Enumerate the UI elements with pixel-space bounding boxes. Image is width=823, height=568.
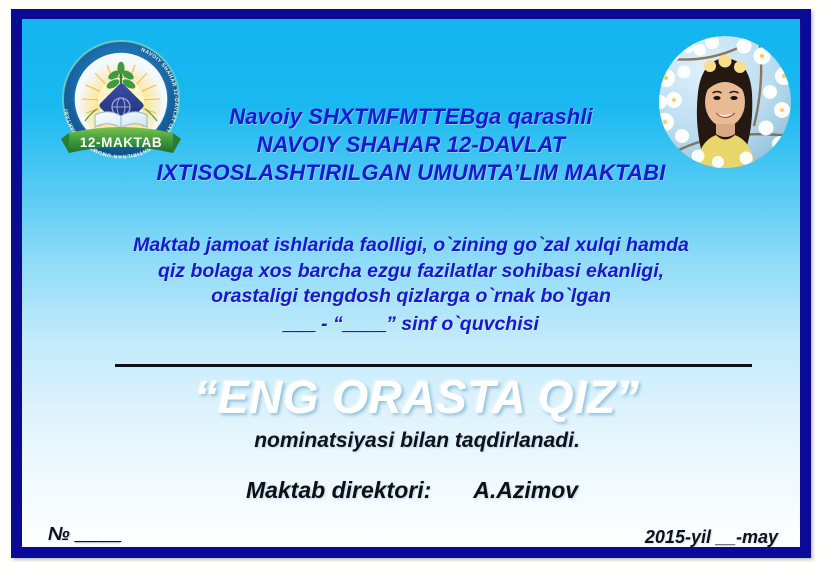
number-symbol: № [48,524,70,545]
body-line-3: orastaligi tengdosh qizlarga o`rnak bo`l… [44,284,778,310]
body-line-1: Maktab jamoat ishlarida faolligi, o`zini… [44,233,778,259]
certificate-number: № ____ [48,524,121,546]
certificate-date: 2015-yil __-may [645,527,778,547]
director-name: A.Azimov [473,477,578,503]
certificate-page: NAVOIY SHAHAR 12-DAVLAT IXTISOSLASHTIRIL… [0,0,823,568]
certificate-card: NAVOIY SHAHAR 12-DAVLAT IXTISOSLASHTIRIL… [22,19,800,547]
heading-line-3: IXTISOSLASHTIRILGAN UMUMTA’LIM MAKTABI [82,159,740,187]
class-suffix: ” sinf o`quvchisi [386,313,539,335]
citation-body: Maktab jamoat ishlarida faolligi, o`zini… [44,233,778,337]
grade-dash: - “ [316,313,343,335]
director-signature-row: Maktab direktori:A.Azimov [62,477,762,504]
horizontal-divider [115,364,752,367]
nomination-text: nominatsiyasi bilan taqdirlanadi. [62,429,772,453]
certificate-border-frame: NAVOIY SHAHAR 12-DAVLAT IXTISOSLASHTIRIL… [11,9,811,558]
class-letter-blank: ____ [343,313,386,335]
grade-blank: ___ [283,313,316,335]
number-blank: ____ [75,524,121,545]
body-line-2: qiz bolaga xos barcha ezgu fazilatlar so… [44,259,778,285]
heading-line-1: Navoiy SHXTMFMTTEBga qarashli [82,103,740,131]
body-line-4: ___ - “____” sinf o`quvchisi [44,312,778,338]
school-heading: Navoiy SHXTMFMTTEBga qarashli NAVOIY SHA… [82,103,740,187]
director-label: Maktab direktori: [246,477,431,503]
heading-line-2: NAVOIY SHAHAR 12-DAVLAT [82,131,740,159]
award-title: “ENG ORASTA QIZ” [62,371,772,423]
